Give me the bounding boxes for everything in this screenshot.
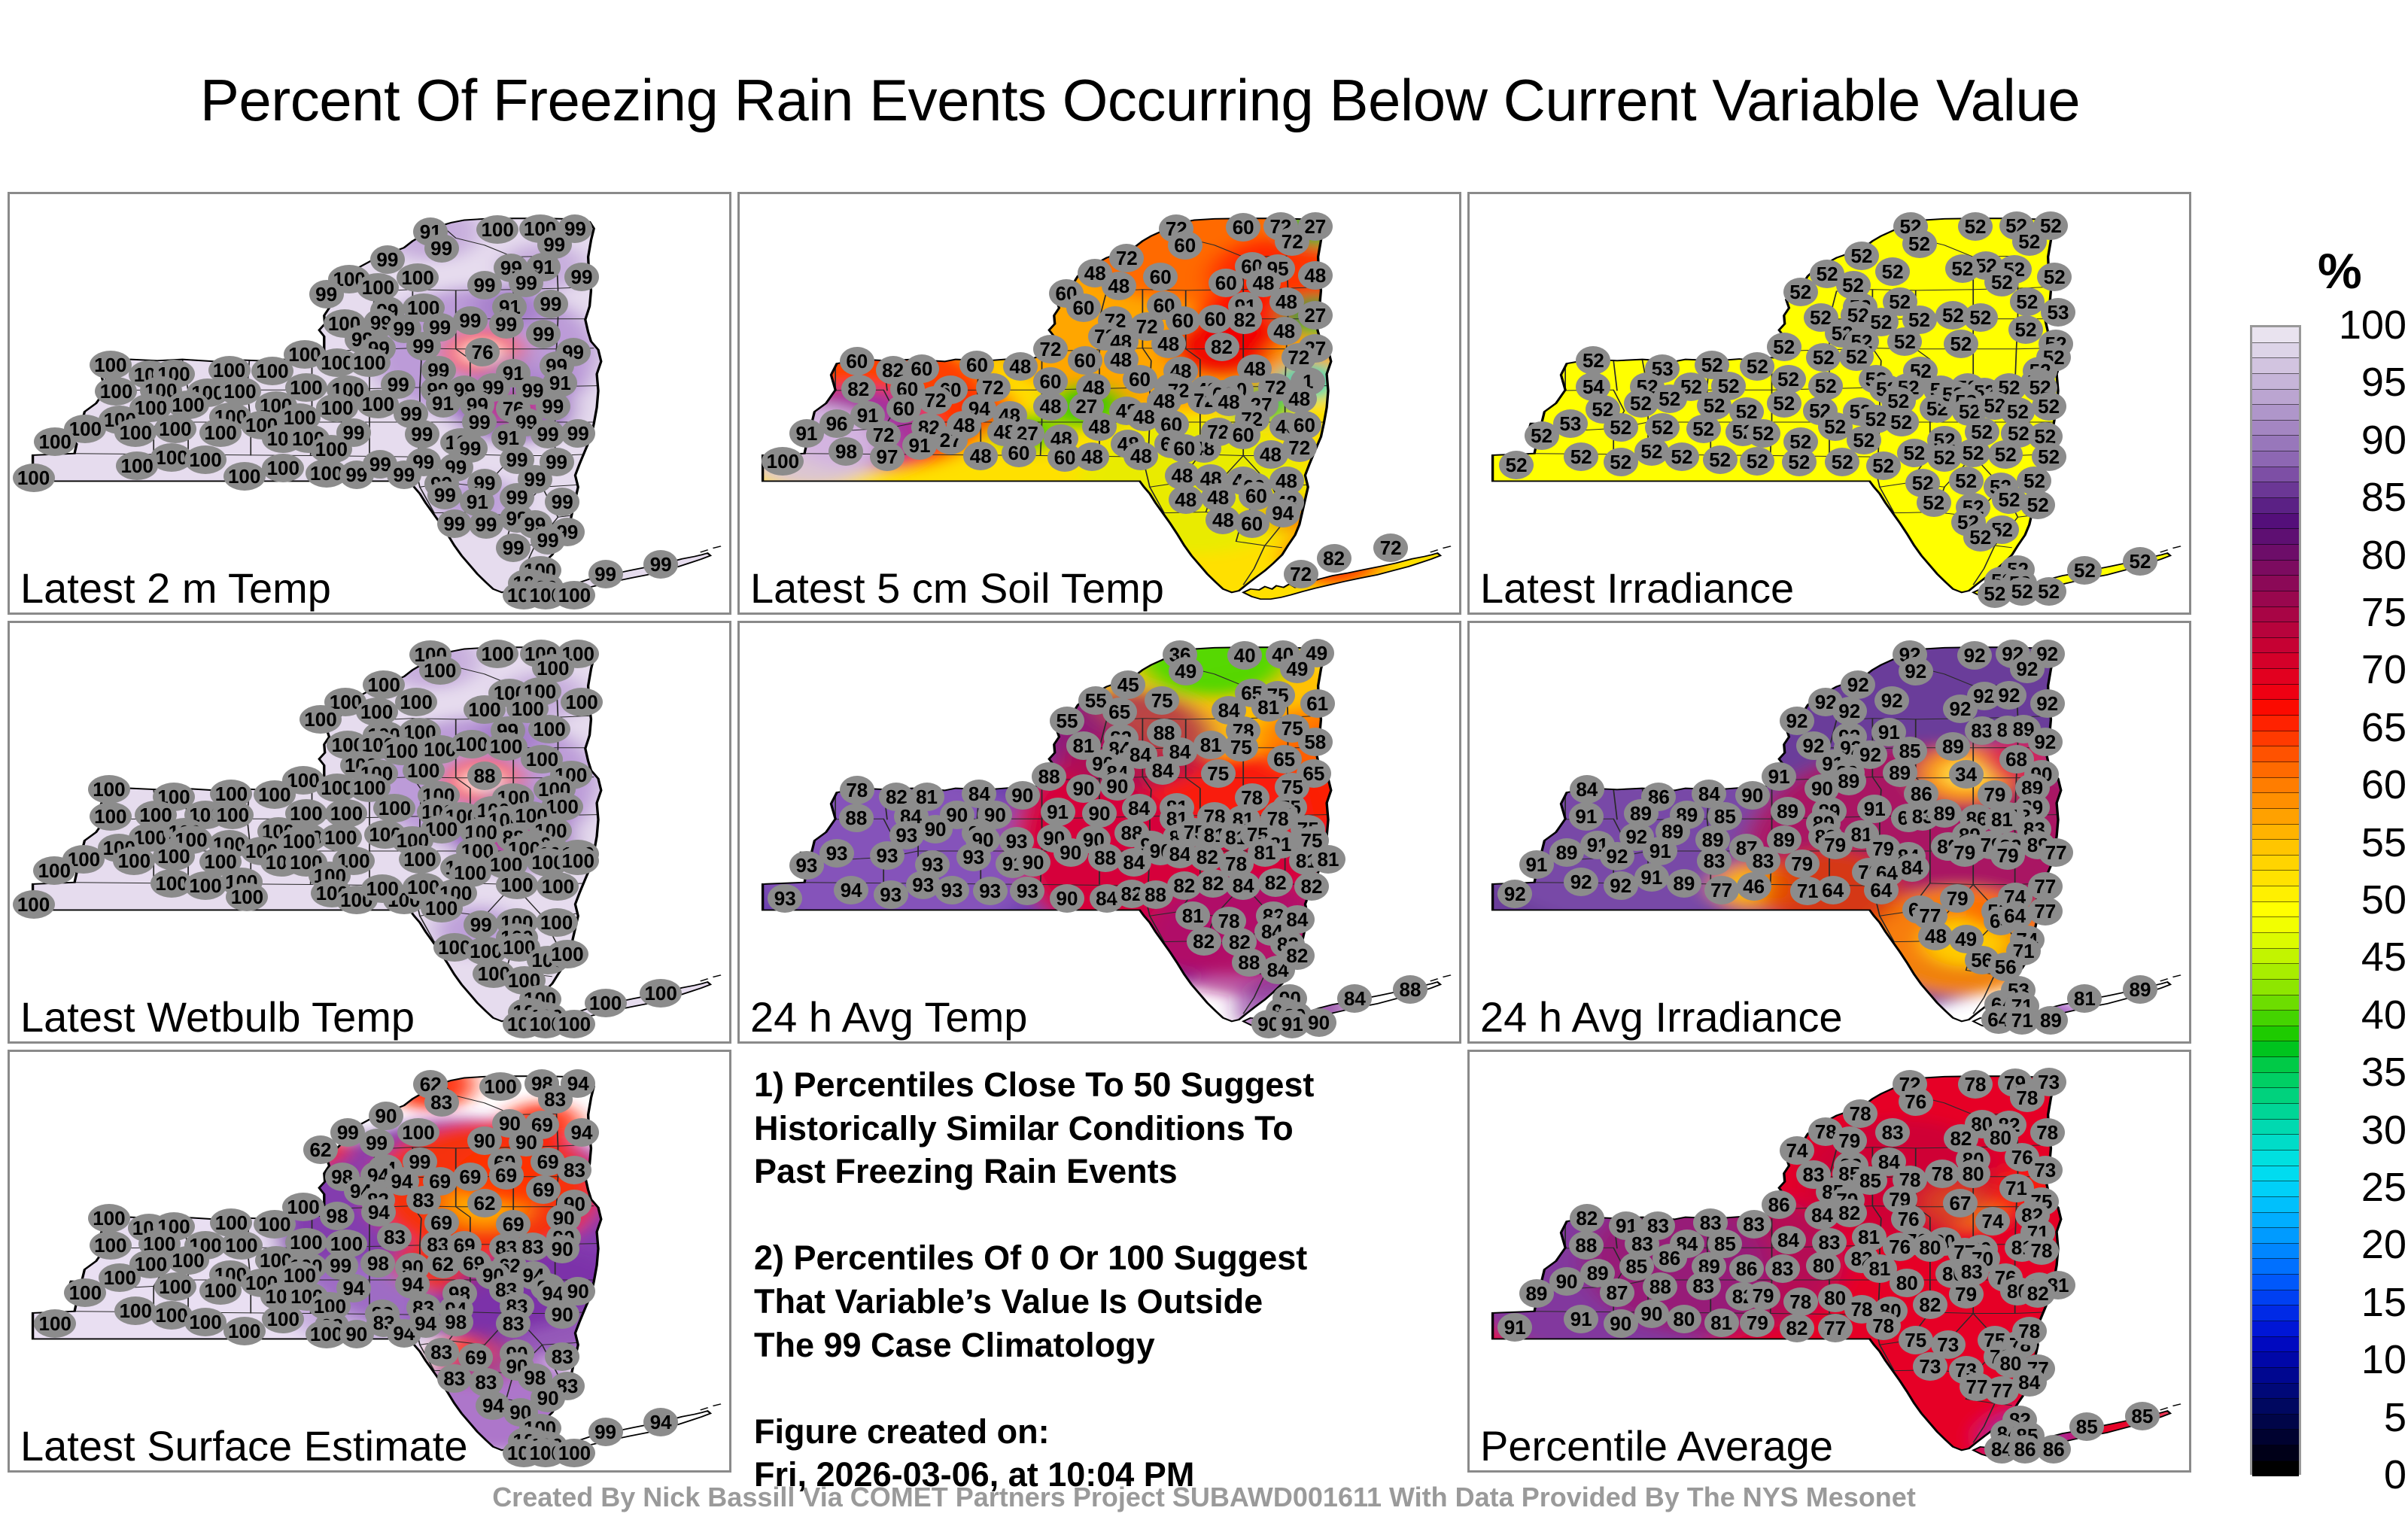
colorbar-segment [2252, 1073, 2299, 1089]
colorbar-segment [2252, 622, 2299, 638]
station-marker: 100 [585, 989, 627, 1017]
station-marker: 99 [489, 310, 524, 339]
station-marker: 99 [437, 509, 472, 538]
colorbar-tick-label: 50 [2316, 880, 2406, 920]
station-marker: 48 [1169, 485, 1203, 514]
station-marker: 49 [1169, 657, 1203, 685]
panel-label-latest-2m-temp: Latest 2 m Temp [20, 567, 331, 609]
station-marker: 91 [1564, 1305, 1598, 1333]
station-marker: 100 [223, 462, 266, 491]
station-marker: 83 [545, 1342, 579, 1371]
station-marker: 52 [1604, 448, 1638, 476]
colorbar-segment [2252, 327, 2299, 343]
colorbar-segment [2252, 467, 2299, 483]
station-marker: 93 [956, 843, 991, 871]
station-marker: 82 [1227, 305, 1262, 334]
colorbar-segment [2252, 716, 2299, 731]
colorbar-segment [2252, 390, 2299, 406]
station-marker: 89 [1771, 797, 1805, 825]
station-marker: 52 [1576, 346, 1610, 375]
colorbar-segment [2252, 746, 2299, 762]
station-marker: 62 [303, 1135, 338, 1164]
station-marker: 99 [588, 560, 623, 588]
station-marker: 92 [1780, 707, 1814, 735]
station-marker: 82 [1187, 927, 1221, 956]
station-marker: 94 [643, 1408, 678, 1436]
station-marker: 52 [1875, 257, 1910, 286]
station-marker: 97 [870, 442, 905, 471]
station-marker: 61 [1300, 689, 1335, 718]
station-marker: 91 [1519, 850, 1554, 879]
colorbar-segment [2252, 374, 2299, 390]
station-marker: 99 [526, 320, 561, 348]
station-marker: 100 [88, 1204, 130, 1233]
station-marker: 100 [536, 908, 578, 937]
station-marker: 79 [1947, 838, 1982, 867]
colorbar-segment [2252, 1088, 2299, 1104]
station-marker: 84 [1570, 775, 1604, 804]
station-marker: 81 [2067, 984, 2102, 1013]
station-marker: 91 [426, 389, 461, 418]
colorbar-tick-label: 75 [2316, 592, 2406, 633]
colorbar-segment [2252, 607, 2299, 623]
station-marker: 52 [2032, 577, 2066, 606]
colorbar-segment [2252, 949, 2299, 965]
station-marker: 100 [167, 1246, 209, 1275]
colorbar-segment [2252, 498, 2299, 514]
station-marker: 91 [789, 419, 824, 448]
station-marker: 79 [1949, 1280, 1984, 1309]
station-marker: 100 [373, 794, 415, 822]
station-marker: 48 [963, 442, 998, 470]
station-marker: 91 [1569, 802, 1604, 831]
station-marker: 80 [1806, 1251, 1841, 1280]
station-marker: 48 [1267, 317, 1302, 345]
station-marker: 100 [113, 847, 155, 875]
station-marker: 100 [403, 756, 445, 785]
colorbar-tick-label: 70 [2316, 649, 2406, 690]
station-marker: 92 [1564, 868, 1598, 896]
colorbar-segment [2252, 1244, 2299, 1260]
station-marker: 91 [1497, 1313, 1532, 1342]
station-marker: 99 [531, 526, 565, 555]
panel-latest-surface-estimate[interactable]: 6210098948383909069949910090906299949969… [8, 1050, 731, 1473]
station-marker: 100 [184, 871, 227, 900]
station-marker: 80 [1956, 1160, 1990, 1188]
station-marker: 83 [557, 1156, 591, 1184]
station-marker: 78 [1866, 1312, 1901, 1340]
station-marker: 83 [1737, 1210, 1771, 1239]
colorbar-segment [2252, 933, 2299, 949]
panel-label-percentile-average: Percentile Average [1480, 1425, 1833, 1467]
station-marker: 82 [2020, 1279, 2055, 1308]
station-marker: 60 [1143, 263, 1178, 291]
station-marker: 92 [1497, 880, 1532, 908]
colorbar-segment [2252, 1275, 2299, 1290]
station-marker: 52 [1808, 372, 1843, 400]
station-marker: 73 [1913, 1352, 1947, 1381]
station-marker: 52 [1917, 488, 1951, 517]
station-marker: 52 [1825, 448, 1859, 476]
colorbar-segment [2252, 1337, 2299, 1353]
station-marker: 52 [1686, 415, 1721, 443]
colorbar-segment [2252, 762, 2299, 778]
station-marker: 92 [1957, 641, 1992, 670]
station-marker: 82 [1317, 544, 1351, 573]
station-marker: 89 [1927, 799, 1962, 828]
station-marker: 86 [1652, 1244, 1687, 1272]
station-marker: 52 [1499, 451, 1534, 479]
station-marker: 88 [1032, 762, 1066, 791]
station-marker: 92 [2028, 728, 2063, 756]
colorbar-segment [2252, 514, 2299, 530]
station-marker: 83 [1765, 1254, 1800, 1283]
station-marker: 52 [1963, 523, 1998, 552]
station-marker: 98 [829, 437, 863, 466]
colorbar-tick-label: 65 [2316, 707, 2406, 748]
station-marker: 52 [1767, 333, 1801, 361]
station-marker: 99 [464, 910, 498, 939]
colorbar [2250, 325, 2301, 1475]
station-marker: 88 [1569, 1231, 1604, 1260]
station-marker: 52 [1944, 330, 1978, 358]
station-marker: 72 [918, 386, 953, 415]
station-marker: 82 [1570, 1204, 1604, 1233]
station-marker: 89 [1549, 838, 1584, 867]
station-marker: 100 [154, 1272, 196, 1301]
station-marker: 72 [1033, 335, 1068, 363]
station-marker: 99 [427, 481, 462, 509]
station-marker: 89 [2123, 975, 2157, 1004]
station-marker: 100 [316, 394, 358, 422]
station-marker: 45 [1111, 670, 1145, 699]
station-marker: 60 [1167, 434, 1202, 463]
panel-latest-5cm-soil-temp[interactable]: 7260722760727260954848486048606091482760… [737, 192, 1461, 615]
station-marker: 99 [561, 419, 595, 448]
colorbar-tick-label: 40 [2316, 995, 2406, 1035]
station-marker: 69 [489, 1161, 524, 1190]
panel-label-24h-avg-temp: 24 h Avg Temp [750, 996, 1027, 1038]
station-marker: 83 [424, 1088, 459, 1117]
station-marker: 89 [1935, 732, 1970, 761]
station-marker: 88 [839, 804, 874, 832]
station-marker: 48 [1033, 392, 1068, 421]
station-marker: 76 [465, 338, 500, 366]
station-marker: 90 [1050, 884, 1084, 913]
panel-latest-irradiance[interactable]: 5252525252525252525252525252525252525252… [1467, 192, 2191, 615]
station-marker: 52 [1665, 442, 1699, 471]
station-marker: 82 [1832, 1199, 1867, 1227]
station-marker: 100 [13, 890, 55, 919]
station-marker: 52 [1887, 327, 1922, 356]
station-marker: 90 [1005, 781, 1040, 810]
station-marker: 100 [116, 451, 158, 480]
colorbar-tick-label: 60 [2316, 764, 2406, 805]
colorbar-segment [2252, 995, 2299, 1011]
station-marker: 99 [309, 280, 344, 309]
station-marker: 99 [545, 488, 579, 516]
station-marker: 100 [557, 847, 599, 875]
station-marker: 64 [1864, 876, 1899, 904]
station-marker: 92 [1874, 686, 1909, 715]
station-marker: 73 [2028, 1156, 2063, 1184]
station-marker: 82 [1205, 333, 1239, 361]
station-marker: 100 [153, 842, 195, 871]
station-marker: 52 [2012, 227, 2047, 256]
station-marker: 48 [1298, 261, 1333, 290]
station-marker: 99 [643, 550, 678, 579]
station-marker: 99 [467, 271, 502, 299]
station-marker: 100 [64, 1278, 106, 1307]
colorbar-segment [2252, 1461, 2299, 1477]
colorbar-segment [2252, 685, 2299, 701]
colorbar-tick-label: 55 [2316, 822, 2406, 863]
colorbar-tick-label: 15 [2316, 1282, 2406, 1323]
station-marker: 52 [2123, 547, 2157, 576]
station-marker: 88 [1393, 975, 1427, 1004]
colorbar-segment [2252, 358, 2299, 374]
station-marker: 100 [553, 581, 595, 609]
colorbar-segment [2252, 1384, 2299, 1400]
station-marker: 74 [1975, 1207, 2010, 1236]
station-marker: 81 [1175, 901, 1210, 930]
panel-percentile-average[interactable]: 7278797376787880827878798382807476737175… [1467, 1050, 2191, 1473]
station-marker: 65 [1102, 698, 1137, 726]
station-marker: 92 [2030, 689, 2065, 718]
station-marker: 100 [262, 454, 304, 482]
colorbar-segment [2252, 482, 2299, 498]
station-marker: 67 [1943, 1189, 1978, 1217]
colorbar-tick-label: 45 [2316, 937, 2406, 977]
station-marker: 52 [1902, 229, 1937, 258]
station-marker: 94 [1266, 499, 1300, 527]
station-marker: 80 [1913, 1233, 1947, 1262]
station-marker: 60 [1226, 421, 1260, 449]
colorbar-segment [2252, 1259, 2299, 1275]
station-marker: 94 [834, 876, 868, 904]
station-marker: 60 [1123, 365, 1157, 394]
colorbar-segment [2252, 871, 2299, 886]
station-marker: 60 [1226, 213, 1260, 242]
colorbar-segment [2252, 1228, 2299, 1244]
station-marker: 52 [2008, 315, 2043, 344]
colorbar-segment [2252, 638, 2299, 654]
station-marker: 83 [538, 1085, 573, 1114]
station-marker: 79 [1785, 850, 1820, 878]
colorbar-segment [2252, 1321, 2299, 1337]
colorbar-segment [2252, 964, 2299, 980]
station-marker: 94 [564, 1118, 599, 1147]
colorbar-segment [2252, 731, 2299, 747]
station-marker: 78 [840, 776, 874, 804]
station-marker: 93 [819, 839, 854, 868]
station-marker: 100 [226, 883, 268, 911]
station-marker: 100 [114, 418, 157, 447]
station-marker: 52 [1634, 437, 1669, 466]
station-marker: 69 [526, 1175, 561, 1204]
station-marker: 100 [546, 940, 588, 968]
station-marker: 94 [409, 1309, 443, 1338]
station-marker: 48 [1003, 352, 1038, 381]
colorbar-segment [2252, 405, 2299, 421]
station-marker: 86 [1729, 1254, 1764, 1283]
colorbar-segment [2252, 700, 2299, 716]
colorbar-segment [2252, 576, 2299, 591]
station-marker: 98 [360, 1249, 395, 1278]
colorbar-tick-label: 35 [2316, 1052, 2406, 1093]
colorbar-segment [2252, 1150, 2299, 1166]
colorbar-segment [2252, 421, 2299, 436]
station-marker: 91 [1643, 837, 1677, 865]
station-marker: 99 [424, 234, 459, 263]
station-marker: 82 [1258, 868, 1293, 897]
colorbar-segment [2252, 1011, 2299, 1026]
station-marker: 100 [399, 845, 441, 874]
panel-24h-avg-irradiance[interactable]: 9292929292929283828992929292929292929268… [1467, 621, 2191, 1044]
panel-latest-wetbulb-temp[interactable]: 1001001001001001001001001001001001001001… [8, 621, 731, 1044]
colorbar-segment [2252, 669, 2299, 685]
station-marker: 83 [424, 1338, 459, 1366]
station-marker: 60 [1002, 439, 1036, 467]
colorbar-tick-label: 10 [2316, 1339, 2406, 1380]
colorbar-segment [2252, 809, 2299, 825]
station-marker: 48 [947, 411, 981, 439]
colorbar-segment [2252, 1399, 2299, 1415]
station-marker: 79 [1990, 841, 2025, 870]
station-marker: 92 [1841, 670, 1875, 699]
figure-title: Percent Of Freezing Rain Events Occurrin… [0, 66, 2280, 135]
station-marker: 81 [1248, 838, 1282, 867]
station-marker: 52 [2067, 556, 2102, 585]
station-marker: 84 [1122, 794, 1157, 822]
station-marker: 82 [841, 375, 876, 403]
station-marker: 92 [2010, 655, 2045, 683]
station-marker: 52 [1958, 212, 1993, 241]
station-marker: 98 [439, 1308, 473, 1336]
station-marker: 100 [262, 1305, 304, 1333]
station-marker: 72 [1109, 244, 1144, 272]
colorbar-segment [2252, 1445, 2299, 1461]
colorbar-segment [2252, 653, 2299, 669]
station-marker: 99 [588, 1418, 623, 1446]
station-marker: 99 [469, 510, 503, 539]
station-marker: 52 [1703, 445, 1738, 474]
station-marker: 100 [114, 1296, 157, 1325]
station-marker: 87 [1600, 1278, 1634, 1307]
station-marker: 100 [199, 1276, 242, 1305]
colorbar-segment [2252, 1026, 2299, 1042]
colorbar-segment [2252, 1415, 2299, 1430]
station-marker: 52 [1525, 421, 1559, 450]
station-marker: 86 [2036, 1435, 2071, 1464]
colorbar-segment [2252, 591, 2299, 607]
station-marker: 92 [1600, 842, 1634, 871]
station-marker: 94 [361, 1198, 396, 1226]
station-marker: 100 [476, 640, 518, 668]
station-marker: 91 [1857, 795, 1892, 823]
station-marker: 91 [1041, 798, 1075, 826]
station-marker: 88 [467, 761, 502, 790]
station-marker: 90 [1053, 838, 1088, 867]
station-marker: 90 [545, 1300, 579, 1329]
station-marker: 85 [2125, 1402, 2160, 1430]
station-marker: 60 [840, 347, 874, 375]
panel-latest-2m-temp[interactable]: 9110010099999999999199100100999999100991… [8, 192, 731, 615]
station-marker: 75 [1899, 1326, 1933, 1354]
station-marker: 52 [1945, 254, 1980, 283]
station-marker: 99 [387, 460, 421, 489]
station-marker: 100 [184, 445, 227, 474]
colorbar-tick-label: 85 [2316, 477, 2406, 518]
station-marker: 90 [1016, 848, 1050, 877]
station-marker: 49 [1280, 655, 1315, 683]
station-marker: 91 [902, 431, 937, 460]
station-marker: 100 [199, 418, 242, 447]
station-marker: 52 [1963, 303, 1998, 332]
station-marker: 100 [561, 688, 603, 716]
station-marker: 92 [1899, 657, 1933, 685]
station-marker: 76 [1899, 1087, 1933, 1116]
station-marker: 90 [545, 1235, 579, 1263]
colorbar-segment [2252, 1306, 2299, 1321]
station-marker: 78 [2010, 1084, 2045, 1112]
colorbar-tick-label: 30 [2316, 1110, 2406, 1150]
colorbar-segment [2252, 1430, 2299, 1445]
station-marker: 100 [395, 688, 437, 716]
station-marker: 48 [1918, 922, 1953, 950]
colorbar-segment [2252, 1197, 2299, 1213]
explanatory-notes: 1) Percentiles Close To 50 Suggest Histo… [754, 1063, 1448, 1497]
station-marker: 83 [437, 1364, 472, 1393]
station-marker: 100 [34, 427, 76, 456]
station-marker: 53 [2041, 298, 2075, 327]
station-marker: 92 [1604, 871, 1638, 900]
colorbar-segment [2252, 545, 2299, 561]
station-marker: 89 [2033, 1006, 2068, 1035]
station-marker: 77 [2039, 838, 2073, 867]
colorbar-segment [2252, 1166, 2299, 1182]
colorbar-segment [2252, 980, 2299, 995]
station-marker: 92 [1992, 681, 2026, 710]
station-marker: 100 [421, 894, 463, 923]
station-marker: 60 [1235, 509, 1269, 538]
station-marker: 90 [369, 1102, 403, 1130]
station-marker: 77 [1818, 1314, 1853, 1342]
panel-24h-avg-temp[interactable]: 3640404949494565756155657584815575588182… [737, 621, 1461, 1044]
station-marker: 52 [1783, 278, 1818, 306]
station-marker: 52 [1884, 408, 1919, 436]
station-marker: 52 [2010, 287, 2045, 316]
station-marker: 92 [1943, 695, 1978, 723]
colorbar-segment [2252, 561, 2299, 576]
colorbar-tick-label: 80 [2316, 535, 2406, 576]
station-marker: 79 [1746, 1281, 1780, 1310]
colorbar-tick-label: 95 [2316, 362, 2406, 403]
station-marker: 83 [377, 1223, 412, 1251]
station-marker: 82 [1294, 872, 1329, 901]
station-marker: 34 [1949, 760, 1984, 789]
station-marker: 83 [1697, 847, 1732, 875]
station-marker: 99 [405, 420, 439, 448]
colorbar-segment [2252, 1057, 2299, 1073]
station-marker: 79 [1832, 1126, 1867, 1155]
colorbar-segment [2252, 451, 2299, 467]
station-marker: 100 [357, 390, 399, 418]
station-marker: 60 [1068, 346, 1102, 375]
station-marker: 72 [1282, 433, 1317, 462]
station-marker: 60 [1066, 293, 1101, 322]
colorbar-tick-label: 90 [2316, 420, 2406, 460]
